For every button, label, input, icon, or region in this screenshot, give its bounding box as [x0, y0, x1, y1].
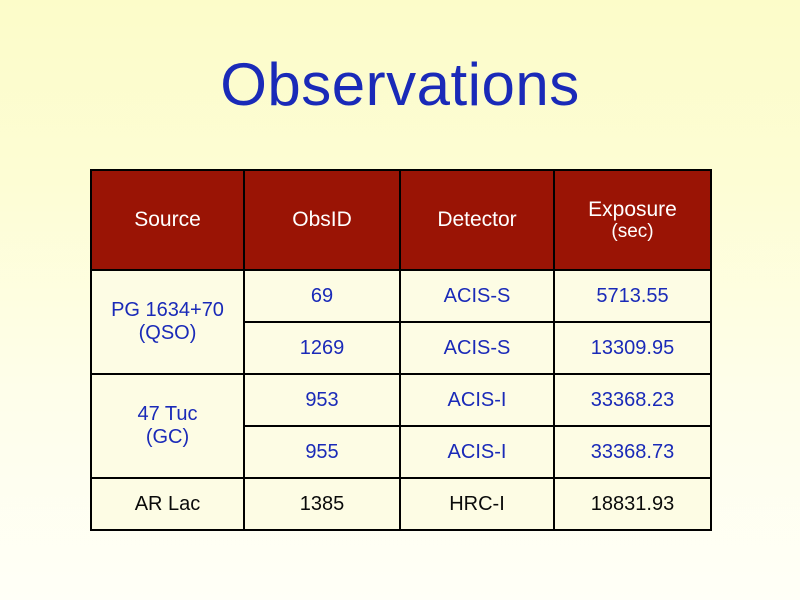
- detector-cell: ACIS-S: [400, 322, 554, 374]
- obsid-cell: 1385: [244, 478, 400, 530]
- exposure-cell: 18831.93: [554, 478, 711, 530]
- column-header-exposure-units: (sec): [559, 221, 706, 242]
- source-type: (QSO): [139, 322, 197, 344]
- table-row: PG 1634+70 (QSO) 69 ACIS-S 5713.55: [91, 270, 711, 322]
- obsid-cell: 1269: [244, 322, 400, 374]
- source-type: (GC): [146, 426, 189, 448]
- detector-cell: ACIS-S: [400, 270, 554, 322]
- observations-table-container: Source ObsID Detector Exposure (sec) PG …: [90, 169, 710, 531]
- source-name: 47 Tuc: [137, 403, 197, 425]
- page-title: Observations: [0, 55, 800, 115]
- source-name: PG 1634+70: [111, 299, 224, 321]
- detector-cell: HRC-I: [400, 478, 554, 530]
- obsid-cell: 955: [244, 426, 400, 478]
- detector-cell: ACIS-I: [400, 426, 554, 478]
- table-header-row: Source ObsID Detector Exposure (sec): [91, 170, 711, 270]
- column-header-exposure: Exposure (sec): [554, 170, 711, 270]
- column-header-detector: Detector: [400, 170, 554, 270]
- exposure-cell: 33368.23: [554, 374, 711, 426]
- obsid-cell: 69: [244, 270, 400, 322]
- source-cell: PG 1634+70 (QSO): [91, 270, 244, 374]
- table-row: AR Lac 1385 HRC-I 18831.93: [91, 478, 711, 530]
- column-header-exposure-main: Exposure: [588, 198, 677, 221]
- source-cell: 47 Tuc (GC): [91, 374, 244, 478]
- table-header: Source ObsID Detector Exposure (sec): [91, 170, 711, 270]
- exposure-cell: 33368.73: [554, 426, 711, 478]
- column-header-source: Source: [91, 170, 244, 270]
- detector-cell: ACIS-I: [400, 374, 554, 426]
- obsid-cell: 953: [244, 374, 400, 426]
- exposure-cell: 13309.95: [554, 322, 711, 374]
- table-row: 47 Tuc (GC) 953 ACIS-I 33368.23: [91, 374, 711, 426]
- slide: Observations Source ObsID Detector Expos…: [0, 0, 800, 600]
- source-cell: AR Lac: [91, 478, 244, 530]
- column-header-obsid: ObsID: [244, 170, 400, 270]
- exposure-cell: 5713.55: [554, 270, 711, 322]
- observations-table: Source ObsID Detector Exposure (sec) PG …: [90, 169, 712, 531]
- table-body: PG 1634+70 (QSO) 69 ACIS-S 5713.55 1269 …: [91, 270, 711, 530]
